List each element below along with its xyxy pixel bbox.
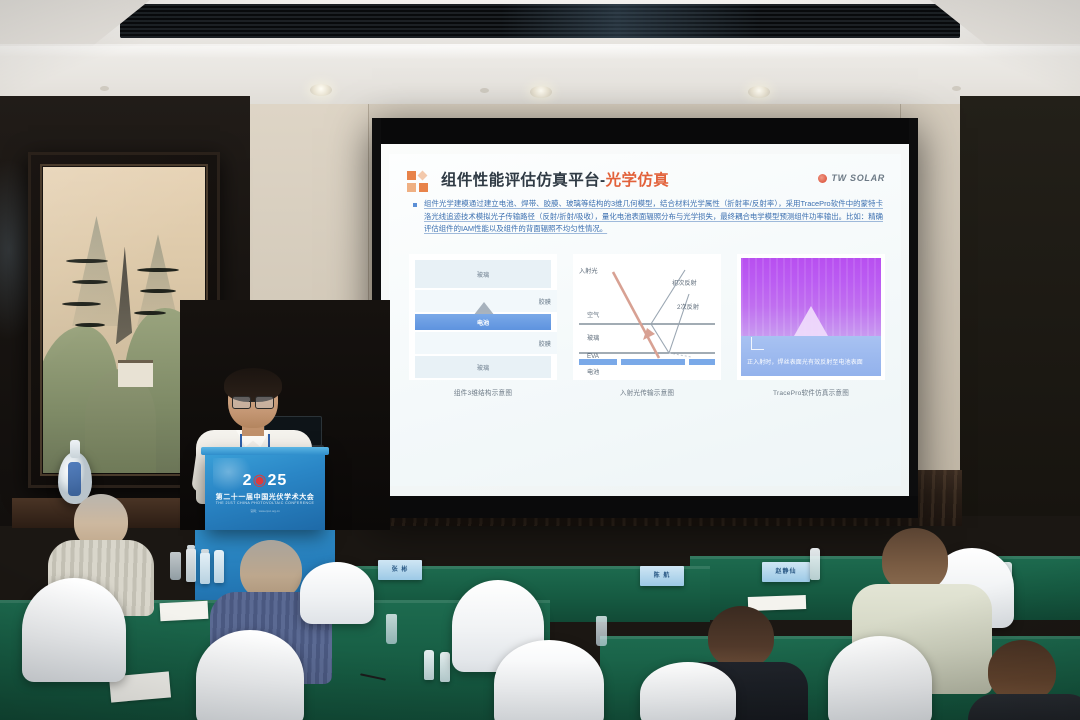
audience-head	[708, 606, 774, 668]
audience-chair	[22, 578, 126, 682]
slide-title-accent: 光学仿真	[606, 172, 670, 189]
sim-ribbon-triangle-icon	[794, 306, 828, 336]
audience-member	[978, 640, 1080, 720]
screen-border-right	[909, 118, 918, 518]
audience-head	[988, 640, 1056, 702]
layer-encapsulant-bottom: 胶膜	[415, 332, 557, 354]
label-eva-layer: EVA	[587, 353, 599, 360]
label-second-reflection: 2次反射	[677, 302, 699, 311]
tracepro-simulation: 正入射时，焊丝表面光有效反射至电池表面	[737, 254, 885, 380]
presentation-slide: 组件性能评估仿真平台-光学仿真 TW SOLAR 组件光学建模通过建立电池、焊带…	[389, 154, 901, 486]
drinking-glass	[596, 616, 607, 646]
downlight-icon	[748, 86, 770, 98]
ceiling-air-vent	[120, 4, 960, 38]
slide-bullet: 组件光学建模通过建立电池、焊带、胶膜、玻璃等结构的3维几何模型，结合材料光学属性…	[413, 198, 883, 236]
slide-title-main: 组件性能评估仿真平台-	[441, 172, 606, 189]
soffit-curve-highlight	[0, 44, 1080, 66]
figure-ray-diagram: 入射光 初次反射 2次反射 空气 玻璃 EVA 电池 入射光传输示意图	[573, 254, 721, 404]
downlight-icon	[530, 86, 552, 98]
water-bottle	[810, 548, 820, 580]
audience-chair	[828, 636, 932, 720]
ceiling-fixture-dot	[480, 88, 489, 93]
podium-lectern: 2◉25 第二十一届中国光伏学术大会 THE 21ST CHINA PHOTOV…	[205, 452, 325, 530]
name-placard: 赵静仙	[762, 562, 810, 582]
drinking-glass	[170, 552, 181, 580]
placard-text: 张 彬	[378, 560, 422, 580]
podium-year-prefix: 2	[243, 472, 253, 489]
podium-url: 官网：www.cpvc.org.cn	[205, 509, 325, 513]
audience-head	[882, 528, 948, 592]
audience-chair	[300, 562, 374, 624]
vase-blue-pattern	[68, 462, 81, 496]
drinking-glass	[386, 614, 397, 644]
ceiling-fixture-dot	[100, 86, 109, 91]
sim-axis-icon	[751, 337, 764, 350]
vent-highlight	[500, 4, 760, 38]
bottle-cap	[187, 545, 195, 549]
audience-chair	[494, 640, 604, 720]
placard-text: 陈 航	[640, 566, 684, 586]
name-placard: 陈 航	[640, 566, 684, 586]
layer-glass-bottom: 玻璃	[415, 356, 551, 378]
right-wall-dark	[960, 96, 1080, 516]
slide-body-text: 组件光学建模通过建立电池、焊带、胶膜、玻璃等结构的3维几何模型，结合材料光学属性…	[424, 198, 883, 236]
figure-tracepro-sim: 正入射时，焊丝表面光有效反射至电池表面 TracePro软件仿真示意图	[737, 254, 885, 404]
figure-module-stack: 玻璃 胶膜 电池 胶膜 玻璃 组件3维结构示意图	[409, 254, 557, 404]
logo-text: TW SOLAR	[831, 173, 885, 183]
module-stack-diagram: 玻璃 胶膜 电池 胶膜 玻璃	[409, 254, 557, 380]
projection-screen: 组件性能评估仿真平台-光学仿真 TW SOLAR 组件光学建模通过建立电池、焊带…	[372, 118, 918, 518]
audience-torso	[968, 694, 1080, 720]
slide-figure-row: 玻璃 胶膜 电池 胶膜 玻璃 组件3维结构示意图	[409, 254, 885, 404]
downlight-icon	[310, 84, 332, 96]
eyeglasses-icon	[232, 396, 274, 407]
placard-text: 赵静仙	[762, 562, 810, 582]
ray-diagram: 入射光 初次反射 2次反射 空气 玻璃 EVA 电池	[573, 254, 721, 380]
slide-title: 组件性能评估仿真平台-光学仿真	[441, 168, 669, 190]
audience-chair	[196, 630, 304, 720]
audience-chair	[640, 662, 736, 720]
water-bottle	[186, 548, 196, 582]
bottle-cap	[201, 549, 209, 553]
podium-cpvc-mark-icon: ◉	[253, 472, 268, 489]
layer-glass-top: 玻璃	[415, 260, 551, 288]
vase-neck	[70, 440, 80, 458]
sun-flower-icon	[818, 174, 827, 183]
water-bottle	[440, 652, 450, 682]
label-glass-layer: 玻璃	[587, 333, 599, 342]
water-bottle	[424, 650, 434, 680]
label-air-layer: 空气	[587, 310, 599, 319]
ceiling-fixture-dot	[952, 86, 961, 91]
notepad-paper	[160, 601, 209, 621]
layer-cell: 电池	[415, 314, 551, 330]
conference-photo-scene: 组件性能评估仿真平台-光学仿真 TW SOLAR 组件光学建模通过建立电池、焊带…	[0, 0, 1080, 720]
label-first-reflection: 初次反射	[672, 278, 697, 287]
slide-decor-squares-icon	[407, 171, 433, 193]
screen-top-casing	[372, 118, 918, 144]
name-placard: 张 彬	[378, 560, 422, 580]
screen-bottom-bar	[372, 496, 918, 518]
podium-year-suffix: 25	[268, 472, 288, 489]
water-bottle	[200, 552, 210, 584]
label-incident-light: 入射光	[579, 266, 598, 275]
label-cell-layer: 电池	[587, 367, 599, 376]
figure-caption: TracePro软件仿真示意图	[773, 387, 849, 397]
podium-year-logo: 2◉25	[205, 470, 325, 490]
simulation-render: 正入射时，焊丝表面光有效反射至电池表面	[741, 258, 881, 376]
podium-top-surface	[201, 447, 329, 455]
audience-head	[240, 540, 302, 600]
figure-caption: 入射光传输示意图	[620, 387, 674, 397]
figure-caption: 组件3维结构示意图	[454, 387, 512, 397]
bullet-square-icon	[413, 203, 417, 207]
screen-surface: 组件性能评估仿真平台-光学仿真 TW SOLAR 组件光学建模通过建立电池、焊带…	[381, 144, 909, 496]
company-logo: TW SOLAR	[818, 173, 885, 183]
sim-overlay-note: 正入射时，焊丝表面光有效反射至电池表面	[747, 357, 863, 366]
podium-conference-name-en: THE 21ST CHINA PHOTOVOLTAIC CONFERENCE	[205, 501, 325, 505]
